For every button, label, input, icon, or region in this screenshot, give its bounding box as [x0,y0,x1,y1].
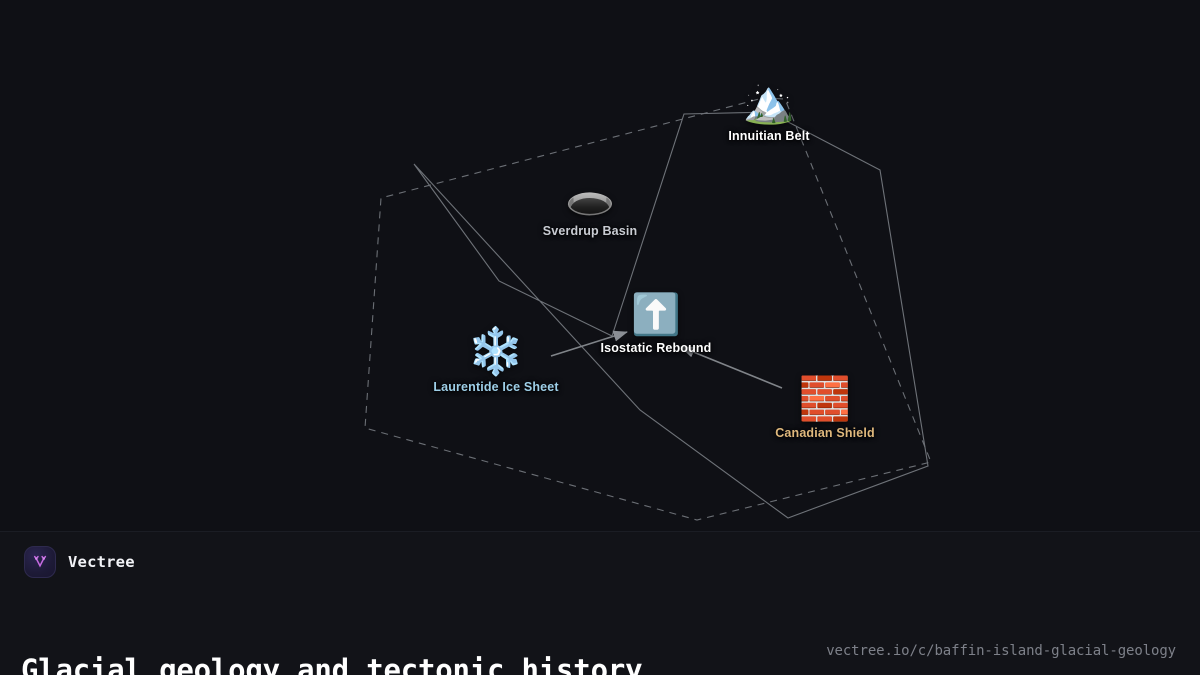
snow-capped-mountain-icon: 🏔️ [743,81,795,123]
node-label-laurentide-ice-sheet: Laurentide Ice Sheet [433,380,558,394]
node-sverdrup-basin[interactable]: 🕳️ Sverdrup Basin [543,178,638,238]
node-label-canadian-shield: Canadian Shield [775,426,875,440]
vectree-share-card: 🏔️ Innuitian Belt 🕳️ Sverdrup Basin ⬆️ I… [0,0,1200,675]
node-label-innuitian-belt: Innuitian Belt [728,129,809,143]
up-arrow-icon: ⬆️ [631,295,681,335]
graph-canvas[interactable]: 🏔️ Innuitian Belt 🕳️ Sverdrup Basin ⬆️ I… [0,0,1200,531]
brand: Vectree [24,546,135,578]
snowflake-icon: ❄️ [467,328,524,374]
hole-basin-icon: 🕳️ [565,178,615,218]
node-label-sverdrup-basin: Sverdrup Basin [543,224,638,238]
page-title-line-1: Glacial geology and tectonic history [21,654,642,675]
node-isostatic-rebound[interactable]: ⬆️ Isostatic Rebound [601,295,712,355]
brick-wall-icon: 🧱 [799,378,851,420]
node-canadian-shield[interactable]: 🧱 Canadian Shield [775,378,875,440]
share-url[interactable]: vectree.io/c/baffin-island-glacial-geolo… [826,643,1176,659]
node-label-isostatic-rebound: Isostatic Rebound [601,341,712,355]
graph-canvas-svg [0,0,1200,531]
footer-bar: Vectree Glacial geology and tectonic his… [0,531,1200,675]
node-laurentide-ice-sheet[interactable]: ❄️ Laurentide Ice Sheet [433,328,558,394]
brand-name: Vectree [68,553,135,571]
vectree-logo-icon [24,546,56,578]
node-innuitian-belt[interactable]: 🏔️ Innuitian Belt [728,81,809,143]
page-title: Glacial geology and tectonic history of … [21,588,642,675]
